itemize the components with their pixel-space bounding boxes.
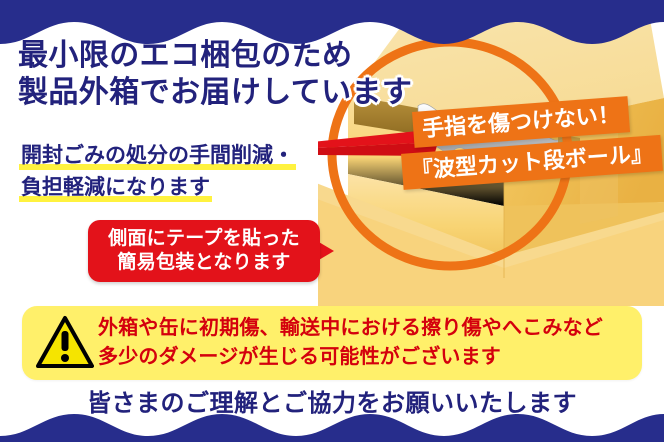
warning-line-1: 外箱や缶に初期傷、輸送中における擦り傷やへこみなど: [98, 314, 634, 343]
red-callout-line-2: 簡易包装となります: [117, 251, 290, 275]
headline-line-2: 製品外箱でお届けしています: [18, 75, 412, 112]
warning-box: 外箱や缶に初期傷、輸送中における擦り傷やへこみなど 多少のダメージが生じる可能性…: [22, 306, 642, 380]
subheadline: 開封ごみの処分の手間削減・ 負担軽減になります: [19, 140, 296, 204]
warning-triangle-icon: [36, 315, 94, 370]
closing-message: 皆さまのご理解とご協力をお願いいたします: [0, 383, 664, 418]
subheadline-line-2: 負担軽減になります: [19, 172, 212, 204]
red-callout-line-1: 側面にテープを貼った: [108, 227, 300, 251]
red-callout-text: 側面にテープを貼った 簡易包装となります: [88, 220, 320, 282]
eco-packaging-notice-banner: 最小限のエコ梱包のため 製品外箱でお届けしています 開封ごみの処分の手間削減・ …: [0, 0, 664, 442]
warning-line-2: 多少のダメージが生じる可能性がございます: [98, 343, 634, 372]
red-callout-box: 側面にテープを貼った 簡易包装となります: [88, 220, 320, 282]
warning-text: 外箱や缶に初期傷、輸送中における擦り傷やへこみなど 多少のダメージが生じる可能性…: [98, 314, 634, 372]
subheadline-line-1: 開封ごみの処分の手間削減・: [19, 140, 296, 172]
headline: 最小限のエコ梱包のため 製品外箱でお届けしています: [18, 38, 412, 112]
subheadline-line-2-text: 負担軽減になります: [21, 176, 210, 199]
headline-line-1: 最小限のエコ梱包のため: [18, 38, 412, 75]
subheadline-line-1-text: 開封ごみの処分の手間削減・: [21, 144, 294, 167]
